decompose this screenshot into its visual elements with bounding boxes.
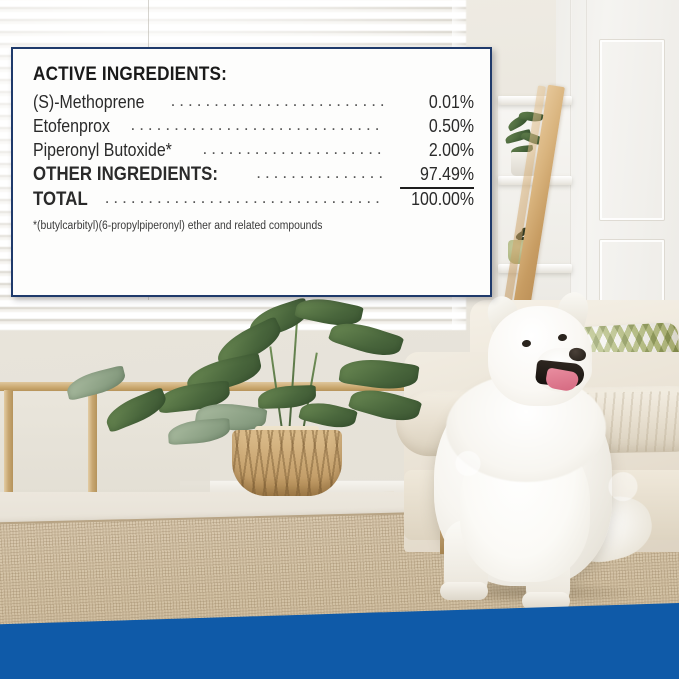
ingredient-row: Piperonyl Butoxide* ....................… bbox=[33, 139, 474, 161]
ingredient-value: 2.00% bbox=[402, 139, 474, 161]
dot-leader: ..................................... bbox=[202, 139, 384, 159]
ingredient-row: (S)-Methoprene .........................… bbox=[33, 91, 474, 113]
ingredient-name: TOTAL bbox=[33, 188, 88, 211]
dot-leader: ..................................... bbox=[171, 91, 384, 111]
total-row: TOTAL ..................................… bbox=[33, 188, 474, 211]
ingredient-name: (S)-Methoprene bbox=[33, 91, 144, 113]
ingredients-list: (S)-Methoprene .........................… bbox=[33, 91, 474, 211]
rattan-basket bbox=[232, 430, 342, 496]
ingredient-name: Piperonyl Butoxide* bbox=[33, 139, 172, 161]
samoyed-dog bbox=[418, 282, 668, 612]
ingredient-row: Etofenprox .............................… bbox=[33, 115, 474, 137]
ingredient-value: 100.00% bbox=[402, 188, 474, 210]
ingredient-value: 0.01% bbox=[402, 91, 474, 113]
ingredient-value: 97.49% bbox=[402, 163, 474, 185]
card-title: ACTIVE INGREDIENTS: bbox=[33, 63, 421, 86]
dot-leader: ..................................... bbox=[130, 115, 384, 135]
ingredient-value: 0.50% bbox=[402, 115, 474, 137]
footnote: *(butylcarbityl)(6-propylpiperonyl) ethe… bbox=[33, 220, 430, 232]
product-image: ACTIVE INGREDIENTS: (S)-Methoprene .....… bbox=[0, 0, 679, 679]
dot-leader: ..................................... bbox=[105, 188, 384, 208]
active-ingredients-card: ACTIVE INGREDIENTS: (S)-Methoprene .....… bbox=[11, 47, 492, 297]
dog-paw-left bbox=[440, 582, 488, 600]
ingredient-name: Etofenprox bbox=[33, 115, 110, 137]
dot-leader: ..................................... bbox=[256, 163, 384, 183]
ingredient-name: OTHER INGREDIENTS: bbox=[33, 163, 218, 186]
other-ingredients-row: OTHER INGREDIENTS: .....................… bbox=[33, 163, 474, 186]
